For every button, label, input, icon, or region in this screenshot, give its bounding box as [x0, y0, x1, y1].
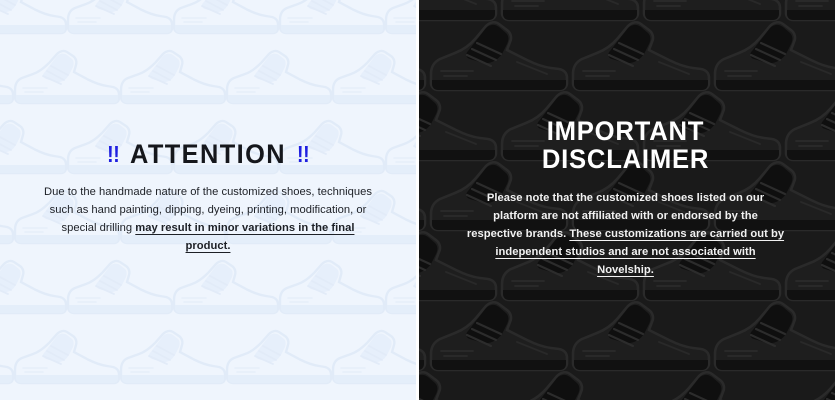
- attention-bang-right-icon: !!: [297, 143, 309, 166]
- attention-heading-text: ATTENTION: [130, 139, 286, 169]
- panel-divider: [416, 0, 419, 400]
- disclaimer-body: Please note that the customized shoes li…: [466, 190, 785, 280]
- attention-content: !!ATTENTION!! Due to the handmade nature…: [0, 141, 416, 256]
- attention-body: Due to the handmade nature of the custom…: [44, 183, 372, 256]
- disclaimer-panel: IMPORTANTDISCLAIMER Please note that the…: [416, 0, 835, 400]
- disclaimer-heading: IMPORTANTDISCLAIMER: [474, 118, 777, 174]
- disclaimer-heading-line2: DISCLAIMER: [474, 146, 777, 174]
- attention-bang-left-icon: !!: [107, 143, 119, 166]
- attention-body-emphasis: may result in minor variations in the fi…: [135, 222, 354, 252]
- disclaimer-heading-line1: IMPORTANT: [474, 118, 777, 146]
- disclaimer-content: IMPORTANTDISCLAIMER Please note that the…: [416, 118, 835, 280]
- attention-panel: !!ATTENTION!! Due to the handmade nature…: [0, 0, 416, 400]
- attention-heading: !!ATTENTION!!: [54, 141, 362, 168]
- disclaimer-banner: !!ATTENTION!! Due to the handmade nature…: [0, 0, 835, 400]
